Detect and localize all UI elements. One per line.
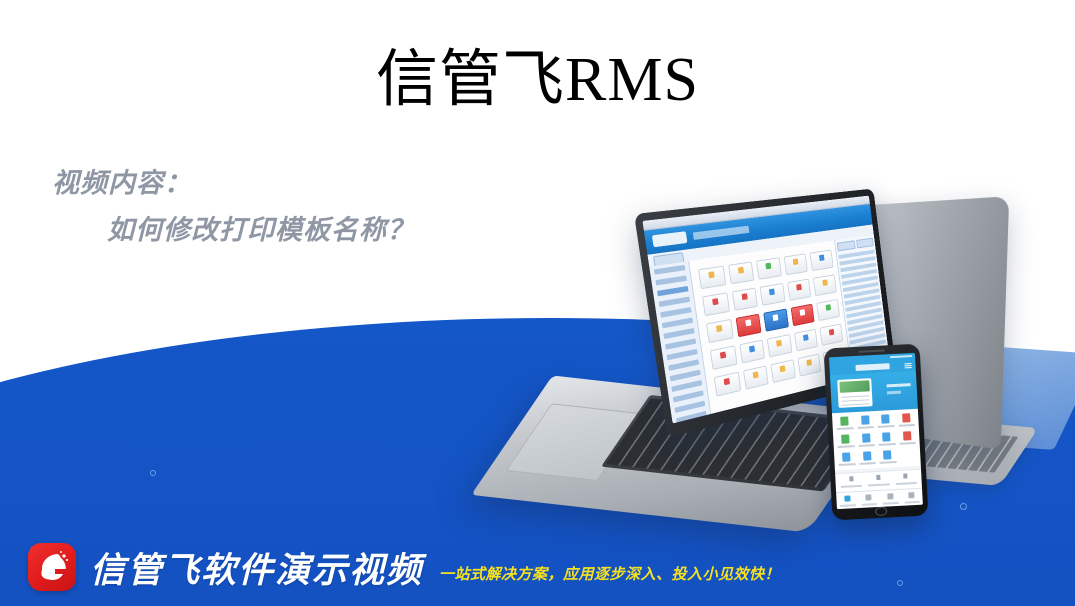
app-grid-icon <box>710 345 737 370</box>
mobile-grid-icon <box>858 451 877 465</box>
sidebar-item <box>655 275 687 285</box>
sidebar-item <box>668 359 699 371</box>
app-grid-icon <box>728 261 755 284</box>
right-panel-tab <box>856 238 874 249</box>
mobile-grid-icon <box>836 434 855 448</box>
app-grid-icon <box>756 257 782 280</box>
sidebar-item <box>665 338 696 349</box>
app-grid-icon <box>763 309 788 332</box>
mobile-stats-row <box>838 473 918 488</box>
app-grid-icon <box>820 323 843 345</box>
app-grid-icon <box>784 253 809 275</box>
mobile-grid-icon <box>856 415 875 429</box>
sidebar-item <box>678 421 709 423</box>
mobile-grid-icon <box>876 414 895 428</box>
sidebar-item <box>663 328 694 339</box>
app-grid-icon <box>714 372 741 397</box>
app-grid-icon <box>743 365 769 389</box>
mobile-app-screen <box>829 353 923 509</box>
right-panel-tab <box>837 240 856 251</box>
sidebar-item <box>670 370 701 382</box>
app-grid-icon <box>817 299 841 321</box>
app-grid-icon <box>735 314 761 338</box>
slide-title: 信管飞RMS <box>0 44 1075 116</box>
smartphone-mockup <box>824 344 929 521</box>
app-header-text <box>693 226 750 240</box>
subtitle-line-2: 如何修改打印模板名称？ <box>52 207 415 254</box>
mobile-icon-grid <box>832 409 921 470</box>
app-logo-icon <box>652 231 688 247</box>
app-grid-icon <box>791 304 815 327</box>
mobile-app-banner <box>830 371 918 413</box>
mobile-nav-item <box>879 490 901 507</box>
mobile-nav-item <box>858 491 880 508</box>
mobile-nav-item <box>901 489 923 506</box>
device-mockup-group <box>490 198 1075 538</box>
sidebar-item <box>671 380 702 392</box>
right-panel-tabs <box>837 238 874 252</box>
mobile-nav-item <box>836 492 858 509</box>
app-grid-icon <box>698 266 726 290</box>
mobile-bottom-nav <box>836 488 923 509</box>
banner-text-line-1 <box>887 383 911 387</box>
sidebar-item <box>667 349 698 360</box>
app-grid-icon <box>810 249 834 271</box>
hamburger-menu-icon <box>904 363 911 368</box>
phone-home-button <box>875 507 887 517</box>
sidebar-item <box>660 307 691 318</box>
mobile-app-title <box>855 363 889 371</box>
mobile-stat-cell <box>838 476 864 488</box>
subtitle-line-1: 视频内容： <box>52 168 192 198</box>
app-grid-icon <box>702 292 730 316</box>
app-grid-icon <box>706 319 733 343</box>
phone-earpiece <box>859 349 885 352</box>
sidebar-item <box>659 297 690 307</box>
sidebar-item <box>654 265 686 275</box>
mobile-grid-icon <box>835 416 854 430</box>
app-grid-icon <box>760 283 786 306</box>
app-grid-icon <box>794 329 818 352</box>
mobile-stat-cell <box>893 473 919 485</box>
app-grid-icon <box>732 288 759 311</box>
banner-text-line-2 <box>887 391 901 395</box>
app-grid-icon <box>813 274 837 296</box>
app-grid-icon <box>787 279 812 301</box>
presentation-slide: 信管飞RMS 视频内容： 如何修改打印模板名称？ <box>0 0 1075 606</box>
bottom-banner: 信管飞软件演示视频 一站式解决方案，应用逐步深入、投入小见效快！ <box>0 528 1075 606</box>
sidebar-item <box>676 411 707 424</box>
sidebar-item-selected <box>657 286 688 296</box>
mobile-grid-icon <box>837 452 856 466</box>
mobile-grid-icon <box>898 431 917 445</box>
banner-card-image <box>837 378 872 408</box>
app-grid-icon <box>739 340 765 364</box>
mobile-grid-icon <box>877 432 896 446</box>
xinguanfei-bird-logo-icon <box>28 543 76 591</box>
sidebar-item <box>662 318 693 329</box>
mobile-grid-icon <box>878 450 897 464</box>
app-grid-icon <box>767 334 792 358</box>
slide-subtitle: 视频内容： 如何修改打印模板名称？ <box>52 160 415 254</box>
app-grid-icon <box>771 359 796 383</box>
banner-tagline: 一站式解决方案，应用逐步深入、投入小见效快！ <box>439 563 780 584</box>
mobile-grid-icon <box>897 413 916 427</box>
decorative-dot <box>150 470 156 476</box>
mobile-grid-icon <box>857 433 876 447</box>
banner-title: 信管飞软件演示视频 <box>90 542 423 593</box>
mobile-stat-cell <box>866 474 892 486</box>
app-grid-icon <box>797 353 821 376</box>
